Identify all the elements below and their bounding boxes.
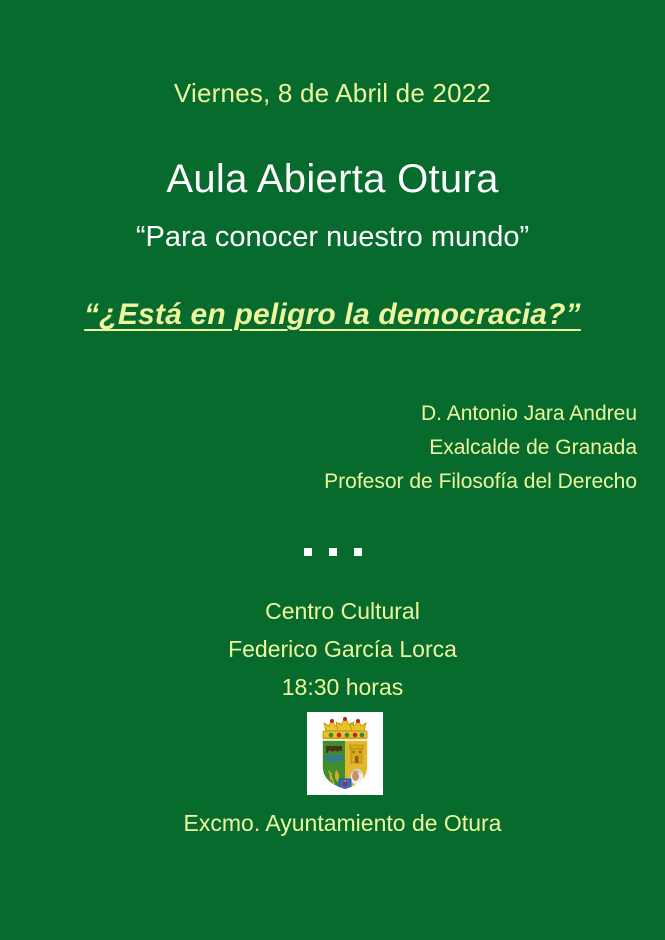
speaker-block: D. Antonio Jara Andreu Exalcalde de Gran… — [0, 397, 637, 499]
square-dot-icon — [354, 548, 362, 556]
page-title: Aula Abierta Otura — [0, 157, 665, 202]
venue-name-line1: Centro Cultural — [0, 592, 665, 630]
coat-of-arms-icon — [307, 712, 383, 795]
event-date: Viernes, 8 de Abril de 2022 — [0, 78, 665, 109]
square-dot-icon — [329, 548, 337, 556]
speaker-position: Profesor de Filosofía del Derecho — [0, 465, 637, 499]
speaker-role: Exalcalde de Granada — [0, 431, 637, 465]
square-dot-icon — [304, 548, 312, 556]
crown-group — [323, 717, 367, 740]
organization-footer: Excmo. Ayuntamiento de Otura — [0, 810, 665, 837]
venue-block: Centro Cultural Federico García Lorca 18… — [0, 592, 665, 706]
speaker-name: D. Antonio Jara Andreu — [0, 397, 637, 431]
otura-crest-svg — [312, 715, 378, 792]
event-time: 18:30 horas — [0, 668, 665, 706]
lecture-title: “¿Está en peligro la democracia?” — [84, 298, 581, 332]
venue-name-line2: Federico García Lorca — [0, 630, 665, 668]
poster-canvas: Viernes, 8 de Abril de 2022 Aula Abierta… — [0, 0, 665, 940]
lecture-title-container: “¿Está en peligro la democracia?” — [0, 298, 665, 332]
shield-group — [322, 740, 368, 792]
page-subtitle: “Para conocer nuestro mundo” — [0, 221, 665, 254]
separator-dots — [0, 548, 665, 556]
